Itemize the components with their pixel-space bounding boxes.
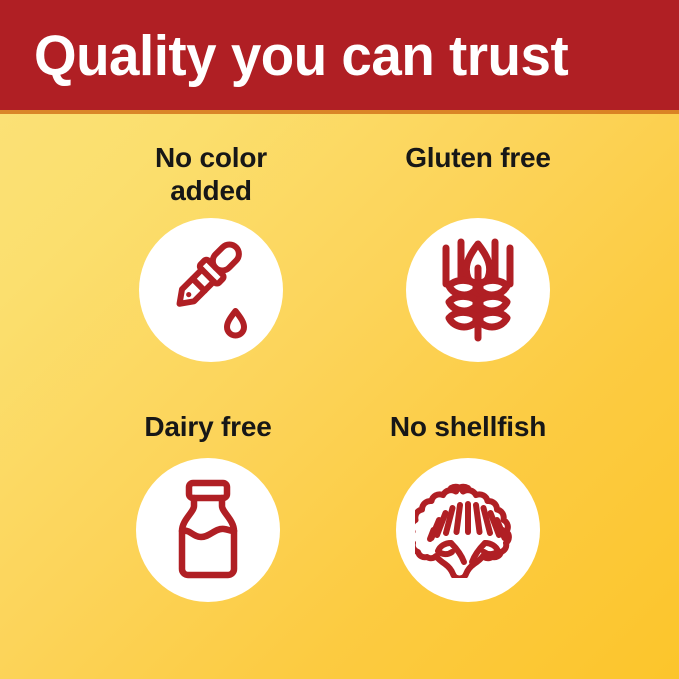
quality-infographic: Quality you can trust No color added — [0, 0, 679, 679]
badge-label: No shellfish — [338, 411, 598, 444]
badge-label: Gluten free — [348, 142, 608, 175]
icon-circle — [136, 458, 280, 602]
badge-grid: No color added — [0, 114, 679, 679]
badge-no-color-added: No color added — [81, 142, 341, 362]
wheat-icon — [432, 238, 524, 342]
icon-circle — [406, 218, 550, 362]
milk-bottle-icon — [169, 479, 247, 581]
badge-gluten-free: Gluten free — [348, 142, 608, 362]
scallop-shell-icon — [415, 482, 521, 578]
badge-label: Dairy free — [78, 411, 338, 444]
icon-circle — [139, 218, 283, 362]
badge-label: No color added — [81, 142, 341, 208]
page-title: Quality you can trust — [34, 28, 568, 85]
icon-circle — [396, 458, 540, 602]
dropper-icon — [159, 238, 263, 342]
badge-no-shellfish: No shellfish — [338, 411, 598, 602]
badge-dairy-free: Dairy free — [78, 411, 338, 602]
header-banner: Quality you can trust — [0, 0, 679, 110]
